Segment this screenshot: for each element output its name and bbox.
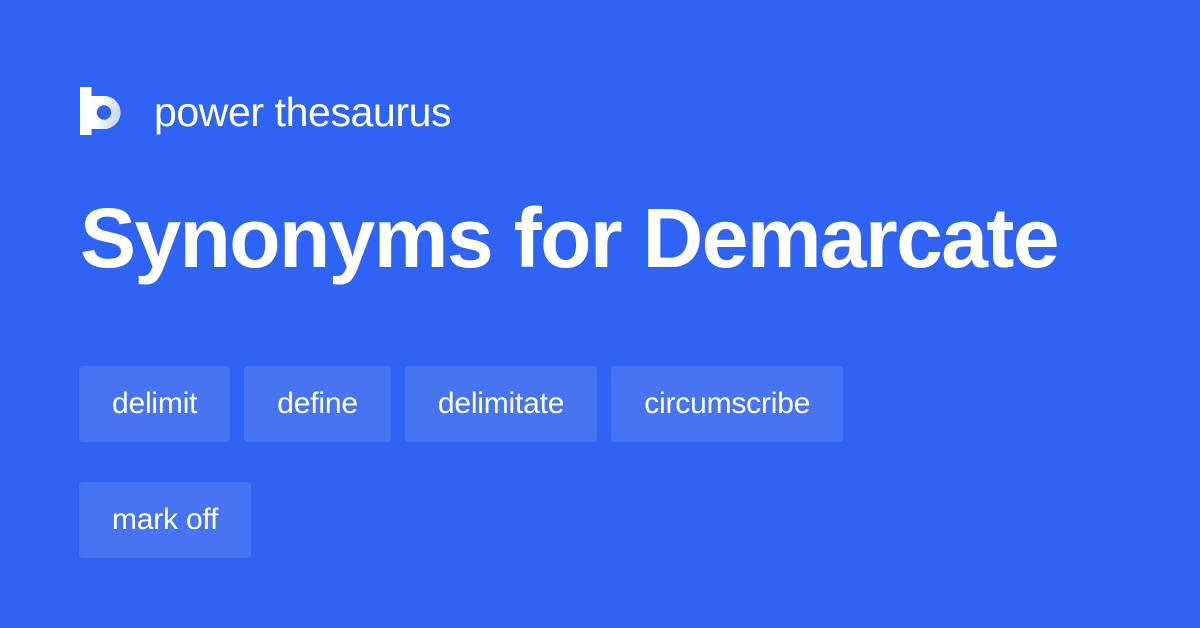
synonym-chip-list: delimit define delimitate circumscribe m… <box>79 366 1119 558</box>
synonym-chip[interactable]: mark off <box>79 482 251 558</box>
synonym-chip[interactable]: circumscribe <box>611 366 843 442</box>
brand-logo[interactable]: power thesaurus <box>80 84 451 138</box>
brand-wordmark: power thesaurus <box>154 92 451 133</box>
synonym-chip[interactable]: delimit <box>79 366 230 442</box>
power-thesaurus-b-logo-icon <box>80 87 126 135</box>
synonym-chip[interactable]: delimitate <box>405 366 597 442</box>
synonym-chip[interactable]: define <box>244 366 391 442</box>
synonyms-share-card: power thesaurus Synonyms for Demarcate d… <box>0 0 1200 628</box>
page-title: Synonyms for Demarcate <box>80 196 1058 280</box>
